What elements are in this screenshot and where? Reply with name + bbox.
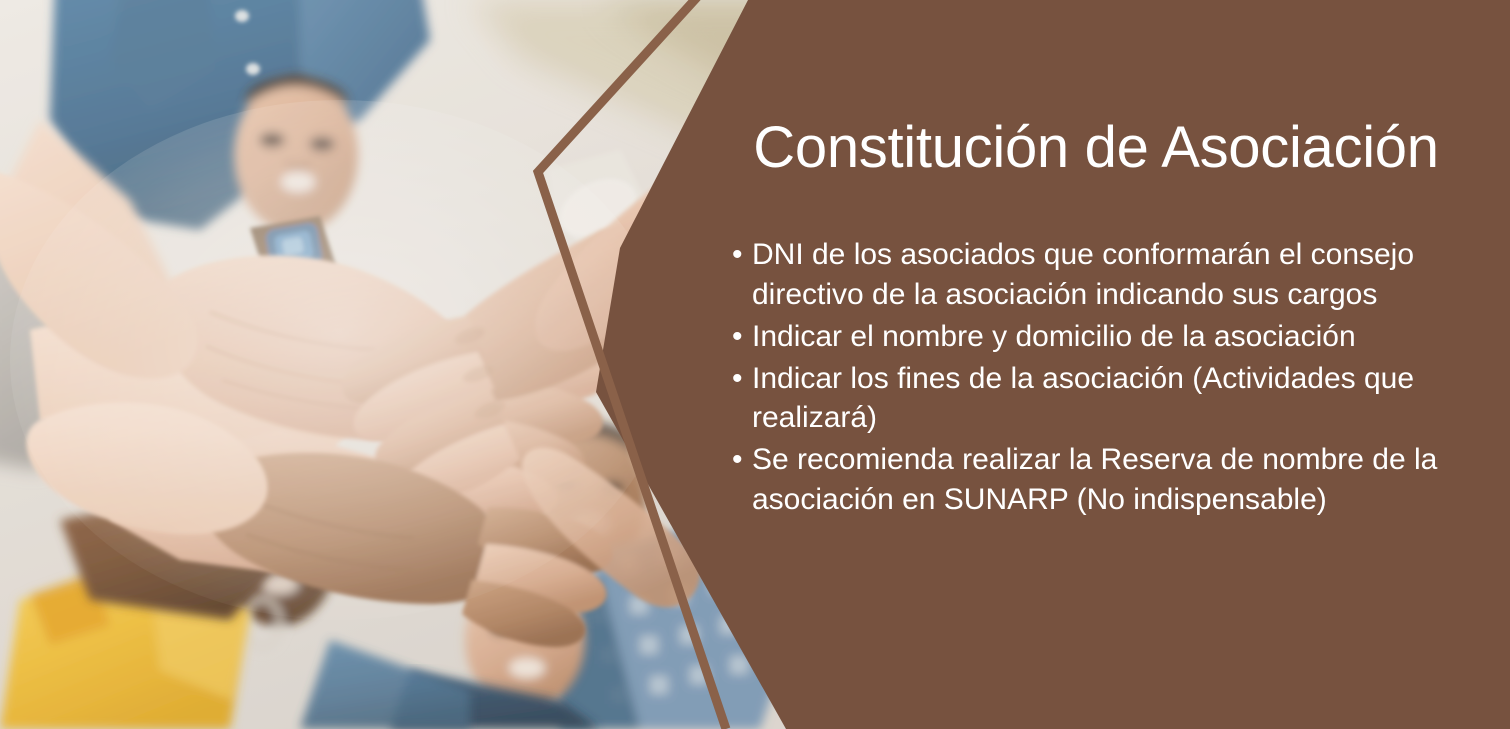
list-item: • DNI de los asociados que conformarán e…: [726, 235, 1466, 315]
list-item-text: Indicar el nombre y domicilio de la asoc…: [752, 320, 1356, 353]
list-item: • Indicar los fines de la asociación (Ac…: [726, 359, 1466, 439]
list-item: • Se recomienda realizar la Reserva de n…: [726, 440, 1466, 520]
page-title: Constitución de Asociación: [726, 118, 1466, 179]
bullet-icon: •: [732, 359, 743, 399]
slide: Constitución de Asociación • DNI de los …: [0, 0, 1510, 729]
bullet-icon: •: [732, 317, 743, 357]
list-item-text: Se recomienda realizar la Reserva de nom…: [752, 443, 1437, 516]
list-item-text: DNI de los asociados que conformarán el …: [752, 238, 1414, 311]
bullet-icon: •: [732, 235, 743, 275]
bullet-icon: •: [732, 440, 743, 480]
list-item: • Indicar el nombre y domicilio de la as…: [726, 317, 1466, 357]
list-item-text: Indicar los fines de la asociación (Acti…: [752, 362, 1414, 435]
requirements-list: • DNI de los asociados que conformarán e…: [726, 235, 1466, 520]
content-area: Constitución de Asociación • DNI de los …: [726, 118, 1466, 522]
